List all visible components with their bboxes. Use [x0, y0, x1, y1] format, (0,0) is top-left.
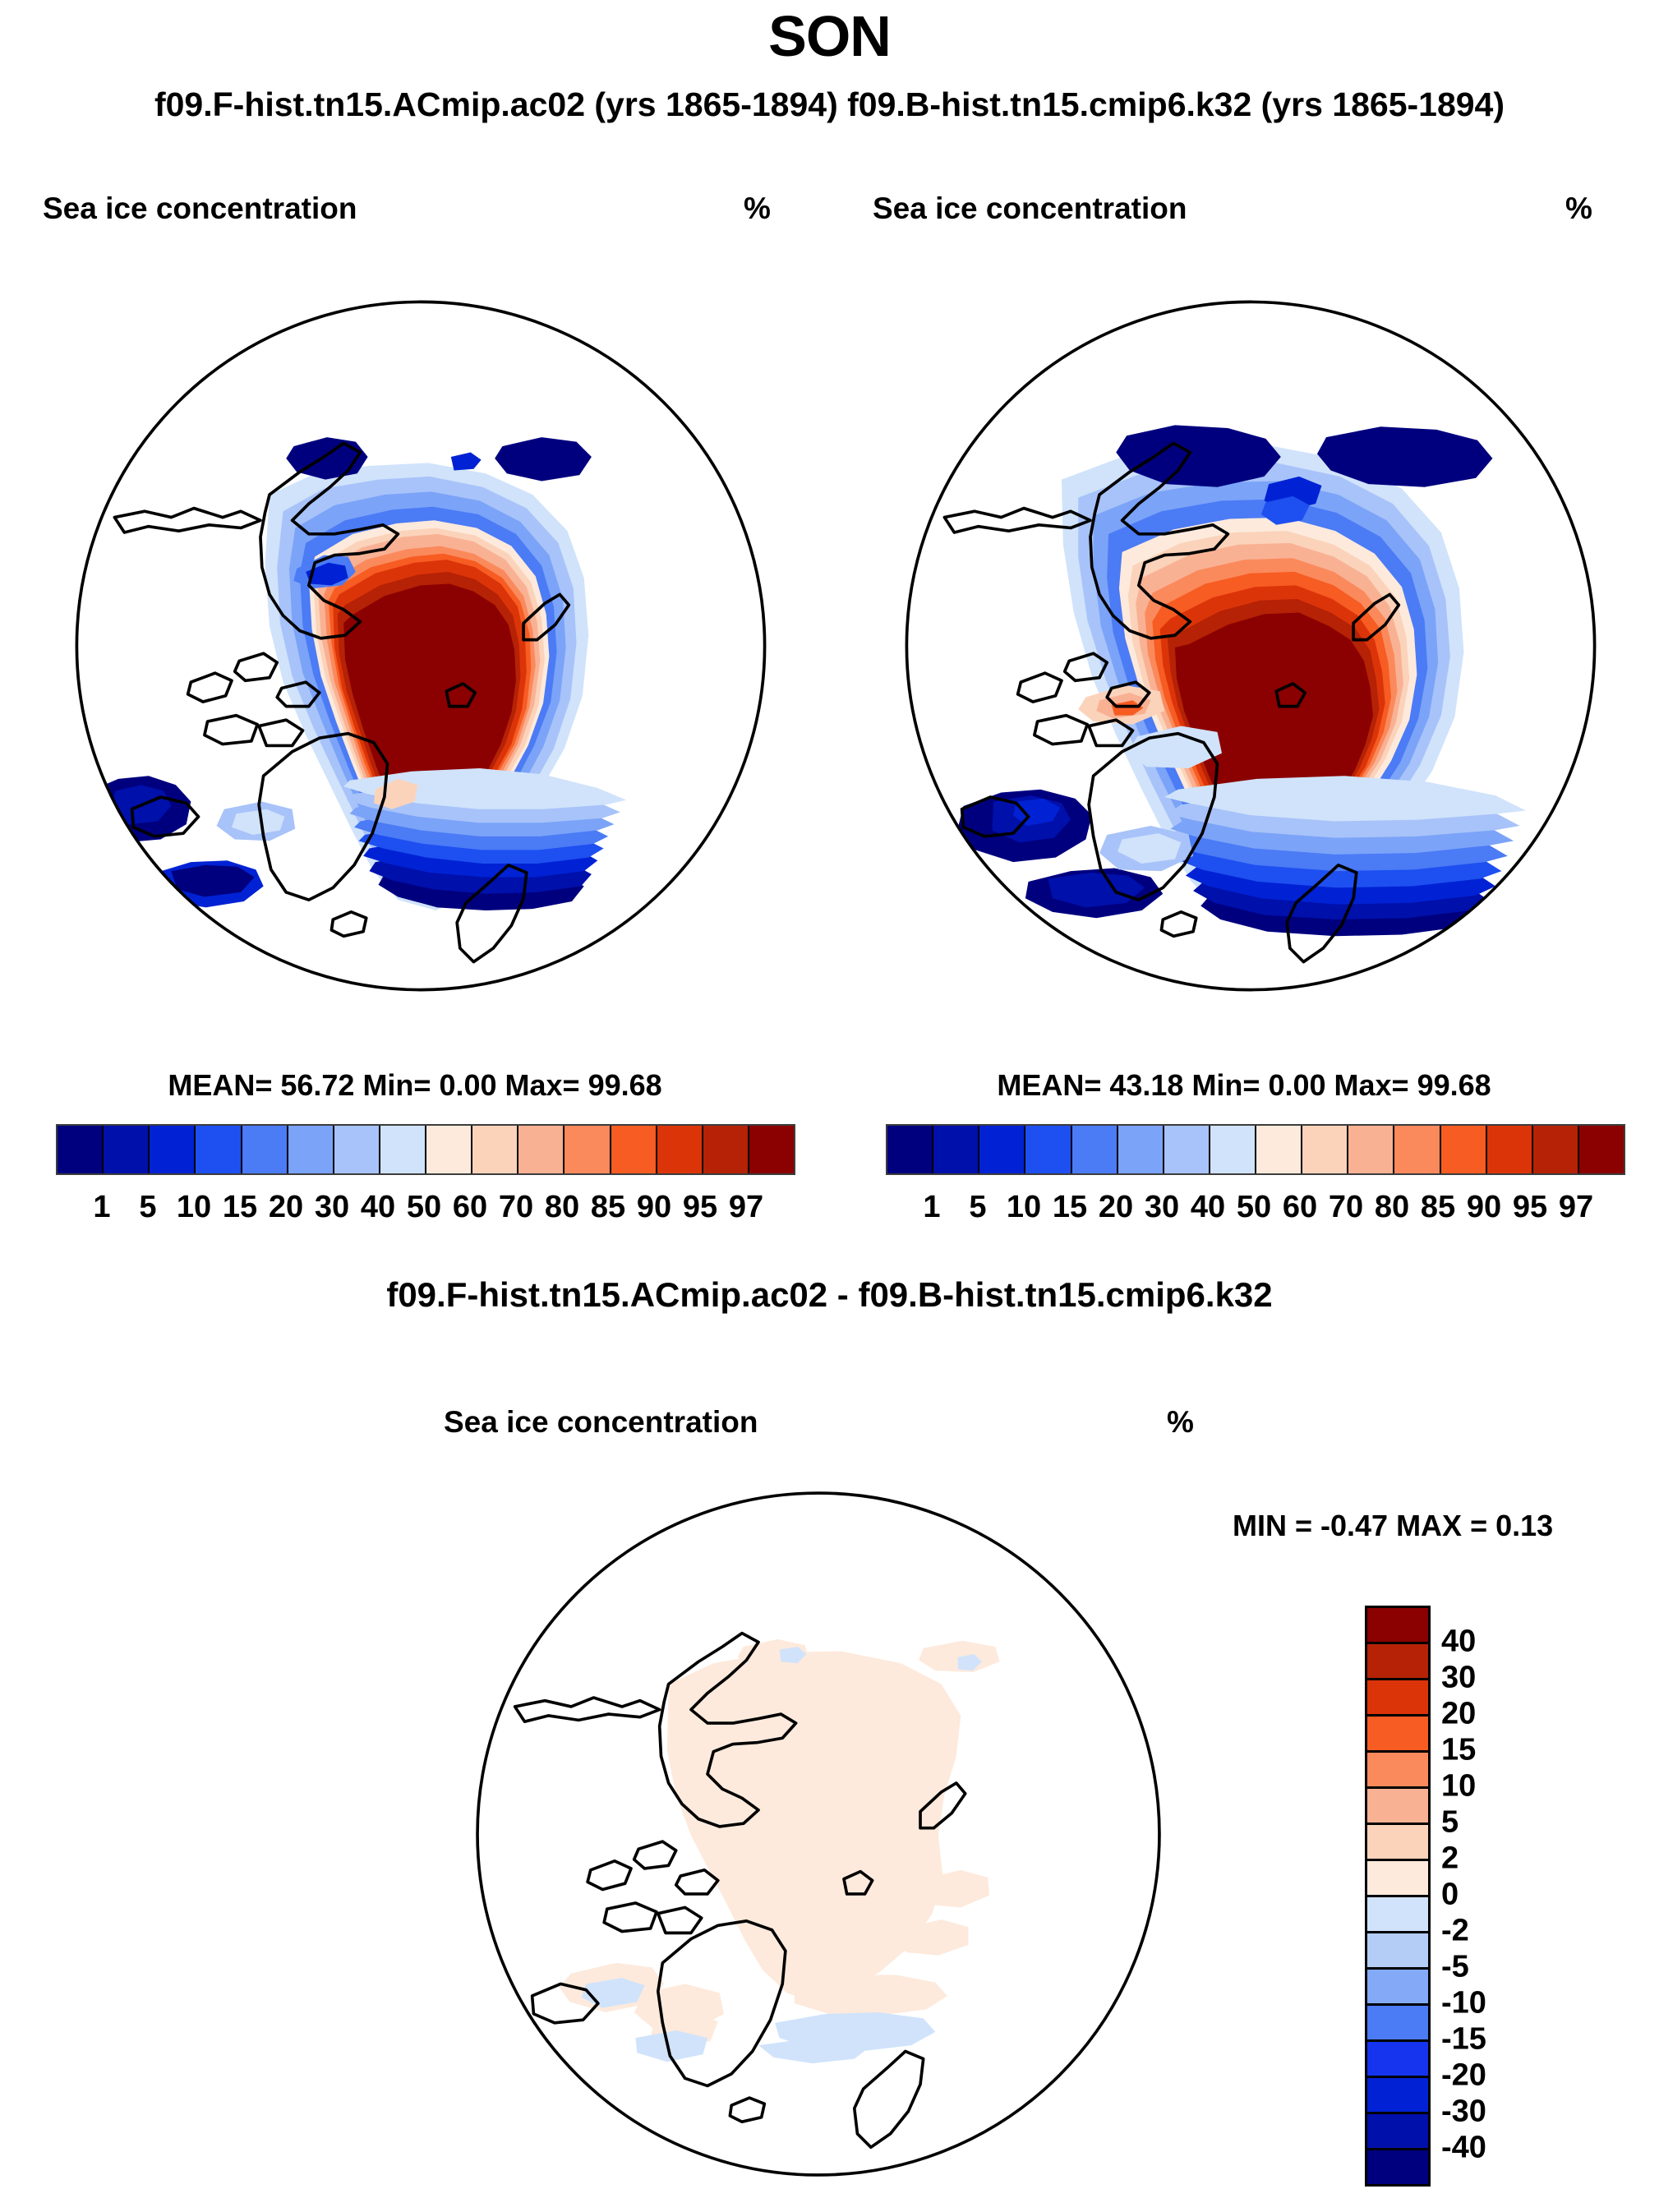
colorbar-tick-label: 40	[1191, 1190, 1225, 1225]
colorbar-tick-label: -2	[1441, 1914, 1469, 1949]
colorbar-cell	[150, 1126, 196, 1173]
colorbar-tick-label: 2	[1441, 1841, 1459, 1877]
left-panel-units-label: %	[744, 191, 771, 226]
colorbar-cell	[1367, 1970, 1428, 2006]
difference-colorbar	[1365, 1606, 1431, 2187]
colorbar-cell	[749, 1126, 794, 1173]
colorbar-cell	[1367, 1608, 1428, 1644]
right-polar-map	[873, 268, 1629, 1024]
colorbar-tick-label: -5	[1441, 1950, 1469, 1985]
colorbar-cell	[104, 1126, 150, 1173]
colorbar-cell	[1367, 1825, 1428, 1861]
difference-panel-units-label: %	[1167, 1405, 1194, 1440]
colorbar-tick-label: 30	[1441, 1661, 1476, 1696]
colorbar-tick-label: -40	[1441, 2131, 1486, 2166]
colorbar-cell	[1210, 1126, 1256, 1173]
colorbar-tick-label: 1	[93, 1190, 110, 1225]
colorbar-tick-label: 15	[223, 1190, 257, 1225]
left-polar-map	[43, 268, 799, 1024]
colorbar-cell	[657, 1126, 703, 1173]
colorbar-cell	[1441, 1126, 1487, 1173]
colorbar-tick-label: 70	[499, 1190, 533, 1225]
colorbar-cell	[380, 1126, 426, 1173]
colorbar-cell	[887, 1126, 933, 1173]
left-panel-variable-label: Sea ice concentration	[43, 191, 357, 226]
colorbar-cell	[1367, 2042, 1428, 2078]
colorbar-tick-label: 97	[729, 1190, 763, 1225]
colorbar-cell	[1367, 2006, 1428, 2042]
colorbar-tick-label: 90	[1467, 1190, 1501, 1225]
colorbar-tick-label: 30	[315, 1190, 349, 1225]
right-map-svg	[873, 268, 1629, 1024]
colorbar-tick-label: -30	[1441, 2094, 1486, 2130]
right-colorbar-labels: 1510152030405060708085909597	[886, 1190, 1625, 1228]
colorbar-tick-label: 10	[1007, 1190, 1041, 1225]
colorbar-cell	[1256, 1126, 1302, 1173]
colorbar-tick-label: 50	[407, 1190, 441, 1225]
colorbar-tick-label: 0	[1441, 1878, 1459, 1913]
colorbar-tick-label: 15	[1441, 1733, 1476, 1768]
right-panel-variable-label: Sea ice concentration	[873, 191, 1187, 226]
colorbar-cell	[1394, 1126, 1440, 1173]
colorbar-cell	[1367, 2114, 1428, 2150]
colorbar-cell	[1367, 1753, 1428, 1789]
colorbar-cell	[1072, 1126, 1118, 1173]
colorbar-cell	[1348, 1126, 1394, 1173]
colorbar-cell	[1533, 1126, 1579, 1173]
colorbar-cell	[933, 1126, 979, 1173]
colorbar-tick-label: 40	[1441, 1624, 1476, 1660]
colorbar-tick-label: 95	[683, 1190, 717, 1225]
right-map-contours	[957, 425, 1526, 936]
colorbar-cell	[1118, 1126, 1164, 1173]
colorbar-tick-label: 85	[1421, 1190, 1455, 1225]
colorbar-tick-label: 5	[139, 1190, 156, 1225]
difference-map-field	[559, 1639, 999, 2063]
colorbar-cell	[334, 1126, 380, 1173]
colorbar-cell	[1367, 1933, 1428, 1970]
colorbar-cell	[1164, 1126, 1210, 1173]
difference-polar-map	[444, 1459, 1193, 2209]
colorbar-cell	[1302, 1126, 1348, 1173]
colorbar-tick-label: -10	[1441, 1986, 1486, 2021]
difference-panel-title: f09.F-hist.tn15.ACmip.ac02 - f09.B-hist.…	[0, 1275, 1659, 1315]
colorbar-tick-label: 60	[453, 1190, 487, 1225]
colorbar-cell	[196, 1126, 242, 1173]
colorbar-tick-label: 20	[1441, 1697, 1476, 1732]
colorbar-cell	[565, 1126, 611, 1173]
colorbar-tick-label: 80	[1375, 1190, 1409, 1225]
colorbar-cell	[426, 1126, 472, 1173]
colorbar-tick-label: 97	[1559, 1190, 1593, 1225]
colorbar-tick-label: 85	[591, 1190, 625, 1225]
colorbar-cell	[472, 1126, 518, 1173]
colorbar-cell	[611, 1126, 657, 1173]
colorbar-cell	[518, 1126, 565, 1173]
colorbar-tick-label: 5	[969, 1190, 986, 1225]
colorbar-tick-label: 10	[177, 1190, 211, 1225]
figure-title: SON	[0, 3, 1659, 69]
difference-panel-variable-label: Sea ice concentration	[444, 1405, 758, 1440]
colorbar-tick-label: 5	[1441, 1805, 1459, 1841]
colorbar-cell	[1367, 1717, 1428, 1753]
colorbar-tick-label: 20	[269, 1190, 303, 1225]
colorbar-cell	[58, 1126, 104, 1173]
colorbar-cell	[1367, 2078, 1428, 2114]
colorbar-tick-label: -15	[1441, 2022, 1486, 2058]
case-name-line: f09.F-hist.tn15.ACmip.ac02 (yrs 1865-189…	[0, 85, 1659, 124]
left-map-svg	[43, 268, 799, 1024]
colorbar-tick-label: 50	[1237, 1190, 1271, 1225]
colorbar-tick-label: 20	[1099, 1190, 1133, 1225]
colorbar-tick-label: 90	[637, 1190, 671, 1225]
colorbar-cell	[288, 1126, 334, 1173]
right-panel-units-label: %	[1565, 191, 1592, 226]
colorbar-cell	[1367, 1897, 1428, 1933]
colorbar-tick-label: 95	[1513, 1190, 1547, 1225]
difference-panel-minmax: MIN = -0.47 MAX = 0.13	[1233, 1509, 1553, 1543]
colorbar-tick-label: 1	[923, 1190, 940, 1225]
left-colorbar-labels: 1510152030405060708085909597	[56, 1190, 795, 1228]
colorbar-cell	[1487, 1126, 1533, 1173]
left-map-contours	[85, 437, 627, 910]
colorbar-cell	[1367, 1680, 1428, 1717]
colorbar-cell	[242, 1126, 288, 1173]
colorbar-cell	[1367, 2150, 1428, 2184]
colorbar-cell	[703, 1126, 749, 1173]
colorbar-tick-label: 15	[1053, 1190, 1087, 1225]
colorbar-cell	[1579, 1126, 1624, 1173]
left-panel-stats: MEAN= 56.72 Min= 0.00 Max= 99.68	[0, 1068, 830, 1103]
colorbar-tick-label: 80	[545, 1190, 579, 1225]
right-colorbar	[886, 1124, 1625, 1175]
left-colorbar	[56, 1124, 795, 1175]
colorbar-cell	[1367, 1644, 1428, 1680]
colorbar-tick-label: 60	[1283, 1190, 1317, 1225]
colorbar-cell	[1367, 1789, 1428, 1825]
colorbar-tick-label: 30	[1145, 1190, 1179, 1225]
colorbar-cell	[979, 1126, 1025, 1173]
colorbar-tick-label: 40	[361, 1190, 395, 1225]
colorbar-tick-label: -20	[1441, 2058, 1486, 2094]
colorbar-tick-label: 70	[1329, 1190, 1363, 1225]
colorbar-cell	[1367, 1861, 1428, 1897]
colorbar-tick-label: 10	[1441, 1769, 1476, 1804]
right-panel-stats: MEAN= 43.18 Min= 0.00 Max= 99.68	[829, 1068, 1659, 1103]
difference-map-svg	[444, 1459, 1193, 2209]
colorbar-cell	[1025, 1126, 1071, 1173]
